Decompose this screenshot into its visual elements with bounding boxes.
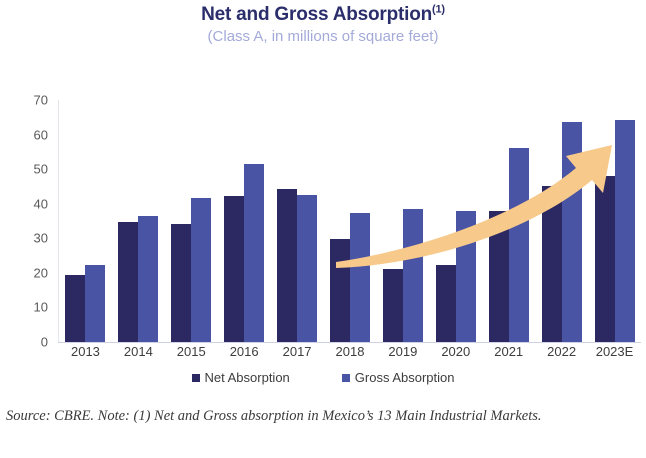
bar-gross-2013 (85, 265, 105, 342)
bar-net-2013 (65, 275, 85, 342)
legend-swatch-icon (342, 374, 350, 382)
bar-net-2023E (595, 176, 615, 342)
legend-label: Net Absorption (205, 370, 290, 385)
bar-groups (59, 100, 641, 342)
bar-net-2014 (118, 222, 138, 342)
x-axis: 2013201420152016201720182019202020212022… (59, 344, 641, 359)
bar-gross-2020 (456, 211, 476, 342)
bar-group (165, 100, 218, 342)
y-axis-tick: 40 (34, 196, 48, 211)
bar-gross-2016 (244, 164, 264, 342)
x-axis-tick: 2019 (376, 344, 429, 359)
bar-net-2017 (277, 189, 297, 342)
x-axis-tick: 2022 (535, 344, 588, 359)
chart-header: Net and Gross Absorption(1) (Class A, in… (0, 4, 646, 45)
bar-group (482, 100, 535, 342)
chart-plot-area: 706050403020100 (0, 90, 646, 360)
x-axis-tick: 2015 (165, 344, 218, 359)
bar-net-2021 (489, 211, 509, 342)
bar-group (112, 100, 165, 342)
x-axis-tick: 2017 (271, 344, 324, 359)
legend-swatch-icon (192, 374, 200, 382)
chart-subtitle: (Class A, in millions of square feet) (0, 28, 646, 45)
bar-group (376, 100, 429, 342)
bar-net-2020 (436, 265, 456, 342)
page-title: Net and Gross Absorption(1) (0, 4, 646, 26)
bar-net-2019 (383, 269, 403, 342)
bar-group (218, 100, 271, 342)
bar-group (588, 100, 641, 342)
x-axis-baseline (58, 342, 641, 343)
chart-legend: Net AbsorptionGross Absorption (0, 370, 646, 385)
bar-net-2015 (171, 224, 191, 342)
bar-gross-2014 (138, 216, 158, 342)
bar-gross-2015 (191, 198, 211, 342)
source-note: Source: CBRE. Note: (1) Net and Gross ab… (6, 406, 640, 427)
bar-gross-2021 (509, 148, 529, 342)
bar-net-2018 (330, 239, 350, 342)
y-axis-tick: 30 (34, 231, 48, 246)
bar-group (59, 100, 112, 342)
bar-group (429, 100, 482, 342)
legend-item[interactable]: Net Absorption (192, 370, 290, 385)
bar-net-2022 (542, 186, 562, 342)
y-axis-tick: 20 (34, 265, 48, 280)
bar-group (324, 100, 377, 342)
x-axis-tick: 2021 (482, 344, 535, 359)
bar-net-2016 (224, 196, 244, 342)
x-axis-tick: 2013 (59, 344, 112, 359)
y-axis-tick: 50 (34, 162, 48, 177)
legend-item[interactable]: Gross Absorption (342, 370, 455, 385)
x-axis-tick: 2023E (588, 344, 641, 359)
chart-title-text: Net and Gross Absorption (201, 4, 432, 25)
y-axis-tick: 70 (34, 93, 48, 108)
bar-gross-2023E (615, 120, 635, 342)
x-axis-tick: 2014 (112, 344, 165, 359)
y-axis-tick: 10 (34, 300, 48, 315)
y-axis-tick: 0 (41, 335, 48, 350)
y-axis: 706050403020100 (0, 90, 58, 342)
bar-gross-2022 (562, 122, 582, 342)
y-axis-tick: 60 (34, 127, 48, 142)
x-axis-tick: 2018 (324, 344, 377, 359)
bar-gross-2018 (350, 213, 370, 342)
bar-group (535, 100, 588, 342)
x-axis-tick: 2016 (218, 344, 271, 359)
legend-label: Gross Absorption (355, 370, 455, 385)
bar-gross-2019 (403, 209, 423, 342)
chart-title-footnote-marker: (1) (432, 4, 445, 16)
bar-gross-2017 (297, 195, 317, 342)
bar-group (271, 100, 324, 342)
x-axis-tick: 2020 (429, 344, 482, 359)
